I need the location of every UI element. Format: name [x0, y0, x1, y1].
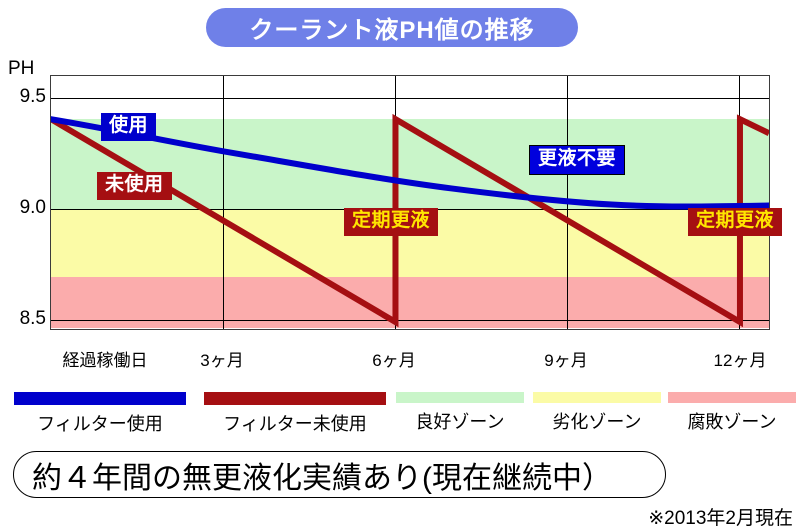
legend-swatch-degraded-zone: [533, 392, 661, 403]
x-tick-3m: 3ヶ月: [200, 346, 243, 371]
series-layer: [51, 76, 769, 329]
legend-swatch-good-zone: [396, 392, 524, 403]
y-tick-9-5: 9.5: [2, 86, 46, 108]
callout-periodic-change-2: 定期更液: [688, 208, 782, 236]
legend-item-filter-unused: フィルター未使用: [204, 392, 386, 436]
legend-item-degraded-zone: 劣化ゾーン: [533, 392, 661, 434]
legend-item-spoiled-zone: 腐敗ゾーン: [668, 392, 796, 434]
legend-label-filter-used: フィルター使用: [14, 410, 186, 436]
callout-no-change-needed: 更液不要: [529, 145, 625, 175]
callout-periodic-change-1: 定期更液: [344, 208, 438, 236]
legend-label-good-zone: 良好ゾーン: [396, 408, 524, 434]
plot-area: [50, 75, 770, 330]
legend-label-filter-unused: フィルター未使用: [204, 410, 386, 436]
x-tick-12m: 12ヶ月: [714, 346, 767, 371]
chart-page: クーラント液PH値の推移 PH 9.5 9.0 8.5 経過稼働日 3ヶ月 6ヶ…: [0, 0, 805, 532]
callout-used: 使用: [101, 113, 156, 141]
legend: フィルター使用 フィルター未使用 良好ゾーン 劣化ゾーン 腐敗ゾーン: [0, 392, 805, 440]
y-tick-8-5: 8.5: [2, 308, 46, 330]
x-tick-9m: 9ヶ月: [544, 346, 587, 371]
legend-item-filter-used: フィルター使用: [14, 392, 186, 436]
footer-highlight: 約４年間の無更液化実績あり(現在継続中）: [13, 451, 666, 498]
legend-item-good-zone: 良好ゾーン: [396, 392, 524, 434]
legend-swatch-filter-used: [14, 392, 186, 405]
legend-swatch-spoiled-zone: [668, 392, 796, 403]
legend-swatch-filter-unused: [204, 392, 386, 405]
x-tick-start: 経過稼働日: [63, 346, 148, 371]
footer-note: ※2013年2月現在: [648, 503, 793, 530]
callout-unused: 未使用: [97, 172, 172, 200]
x-tick-6m: 6ヶ月: [372, 346, 415, 371]
y-tick-9-0: 9.0: [2, 197, 46, 219]
legend-label-degraded-zone: 劣化ゾーン: [533, 408, 661, 434]
page-title: クーラント液PH値の推移: [206, 8, 578, 47]
legend-label-spoiled-zone: 腐敗ゾーン: [668, 408, 796, 434]
